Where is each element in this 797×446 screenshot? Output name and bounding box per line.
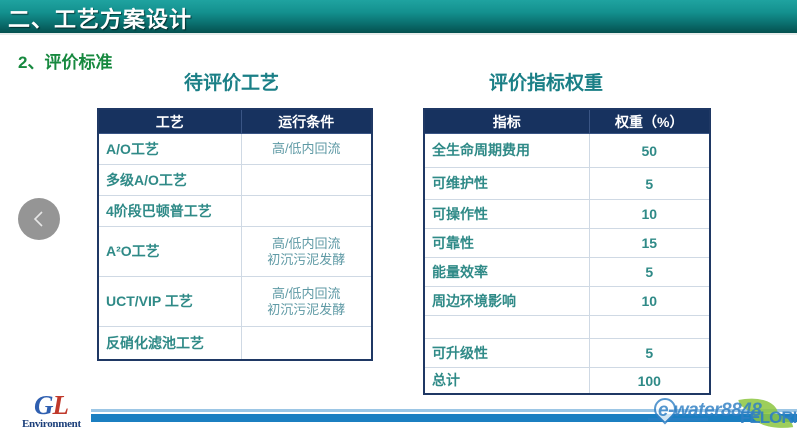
caption-process-table: 待评价工艺 (184, 68, 279, 95)
caption-weight-table: 评价指标权重 (489, 68, 603, 95)
cell-indicator-name: 可维护性 (424, 168, 589, 200)
table-row: UCT/VIP 工艺高/低内回流初沉污泥发酵 (98, 277, 372, 327)
cell-indicator-weight: 10 (589, 200, 710, 229)
process-table: 工艺 运行条件 A/O工艺高/低内回流多级A/O工艺4阶段巴顿普工艺A²O工艺高… (97, 108, 373, 361)
cell-indicator-weight: 15 (589, 229, 710, 258)
cell-indicator-name: 可升级性 (424, 339, 589, 368)
cell-process-name: UCT/VIP 工艺 (98, 277, 241, 327)
watermark: e-water8848 FELORI (648, 394, 797, 434)
cell-operating-condition (241, 165, 372, 196)
cell-process-name: 4阶段巴顿普工艺 (98, 196, 241, 227)
gl-logo-wordmark: Environment (22, 418, 81, 430)
cell-indicator-name: 能量效率 (424, 258, 589, 287)
table-row: A²O工艺高/低内回流初沉污泥发酵 (98, 227, 372, 277)
table-header-row: 工艺 运行条件 (98, 109, 372, 134)
section-label: 2、评价标准 (18, 48, 112, 73)
cell-operating-condition: 高/低内回流初沉污泥发酵 (241, 227, 372, 277)
gl-logo-letter-l: L (53, 390, 69, 420)
cell-indicator-weight: 5 (589, 258, 710, 287)
cell-indicator-weight: 50 (589, 134, 710, 168)
cell-indicator-name: 周边环境影响 (424, 287, 589, 316)
column-header-condition: 运行条件 (241, 109, 372, 134)
cell-indicator-name (424, 316, 589, 339)
table-row: 总计100 (424, 368, 710, 395)
cell-process-name: A²O工艺 (98, 227, 241, 277)
cell-indicator-weight: 100 (589, 368, 710, 395)
cell-indicator-name: 总计 (424, 368, 589, 395)
column-header-indicator: 指标 (424, 109, 589, 134)
cell-operating-condition (241, 327, 372, 361)
cell-operating-condition: 高/低内回流初沉污泥发酵 (241, 277, 372, 327)
cell-indicator-weight: 5 (589, 168, 710, 200)
table-row: 可操作性10 (424, 200, 710, 229)
table-row: 周边环境影响10 (424, 287, 710, 316)
cell-operating-condition: 高/低内回流 (241, 134, 372, 165)
table-row: 反硝化滤池工艺 (98, 327, 372, 361)
cell-indicator-weight: 10 (589, 287, 710, 316)
cell-operating-condition (241, 196, 372, 227)
table-row: 全生命周期费用50 (424, 134, 710, 168)
table-row: 能量效率5 (424, 258, 710, 287)
gl-logo-letter-g: G (34, 390, 53, 420)
table-row: 4阶段巴顿普工艺 (98, 196, 372, 227)
cell-process-name: A/O工艺 (98, 134, 241, 165)
gl-logo-letters: GL (34, 392, 68, 419)
gl-environment-logo: GL Environment (22, 392, 98, 434)
column-header-process: 工艺 (98, 109, 241, 134)
page-title: 二、工艺方案设计 (8, 2, 192, 34)
cell-indicator-name: 可操作性 (424, 200, 589, 229)
weight-table: 指标 权重（%） 全生命周期费用50可维护性5可操作性10可靠性15能量效率5周… (423, 108, 711, 395)
table-row: 可维护性5 (424, 168, 710, 200)
table-header-row: 指标 权重（%） (424, 109, 710, 134)
table-row: A/O工艺高/低内回流 (98, 134, 372, 165)
watermark-brand: FELORI (740, 408, 796, 428)
table-row: 可升级性5 (424, 339, 710, 368)
cell-indicator-weight (589, 316, 710, 339)
table-row (424, 316, 710, 339)
previous-slide-button[interactable] (18, 198, 60, 240)
table-row: 可靠性15 (424, 229, 710, 258)
cell-process-name: 反硝化滤池工艺 (98, 327, 241, 361)
column-header-weight: 权重（%） (589, 109, 710, 134)
header-underline (0, 33, 797, 35)
cell-indicator-weight: 5 (589, 339, 710, 368)
cell-process-name: 多级A/O工艺 (98, 165, 241, 196)
cell-indicator-name: 可靠性 (424, 229, 589, 258)
cell-indicator-name: 全生命周期费用 (424, 134, 589, 168)
table-row: 多级A/O工艺 (98, 165, 372, 196)
